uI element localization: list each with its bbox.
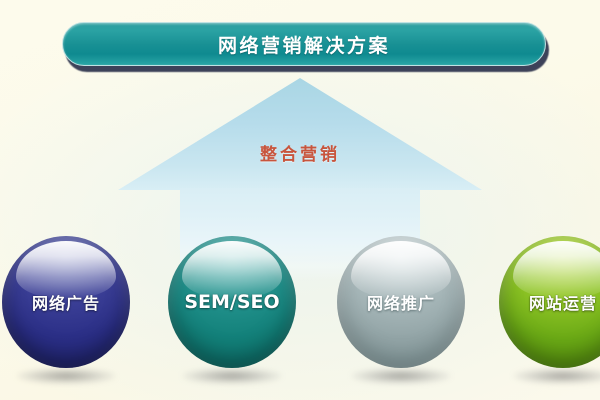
channel-sphere-row: 网络广告 SEM/SEO 网络推广 网站运营	[0, 236, 600, 396]
channel-node-4[interactable]: 网站运营	[499, 236, 600, 368]
channel-label: SEM/SEO	[184, 291, 279, 313]
infographic-canvas: 网络营销解决方案 整合营销 网络广告 SEM/SEO 网络推广	[0, 0, 600, 400]
channel-label: 网络广告	[32, 290, 100, 314]
sphere-drop-shadow	[513, 368, 600, 384]
channel-label: 网络推广	[367, 290, 435, 314]
channel-node-2[interactable]: SEM/SEO	[168, 236, 296, 368]
sphere-graphic: SEM/SEO	[168, 236, 296, 368]
title-banner: 网络营销解决方案	[62, 22, 546, 66]
sphere-drop-shadow	[351, 368, 451, 384]
arrow-head-icon	[118, 78, 482, 190]
sphere-drop-shadow	[182, 368, 282, 384]
channel-label: 网站运营	[529, 290, 597, 314]
channel-node-3[interactable]: 网络推广	[337, 236, 465, 368]
sphere-graphic: 网络推广	[337, 236, 465, 368]
sphere-graphic: 网站运营	[499, 236, 600, 368]
sphere-graphic: 网络广告	[2, 236, 130, 368]
sphere-drop-shadow	[16, 368, 116, 384]
title-banner-pill: 网络营销解决方案	[62, 22, 546, 66]
channel-node-1[interactable]: 网络广告	[2, 236, 130, 368]
arrow-label: 整合营销	[118, 140, 482, 165]
page-title: 网络营销解决方案	[218, 31, 390, 58]
